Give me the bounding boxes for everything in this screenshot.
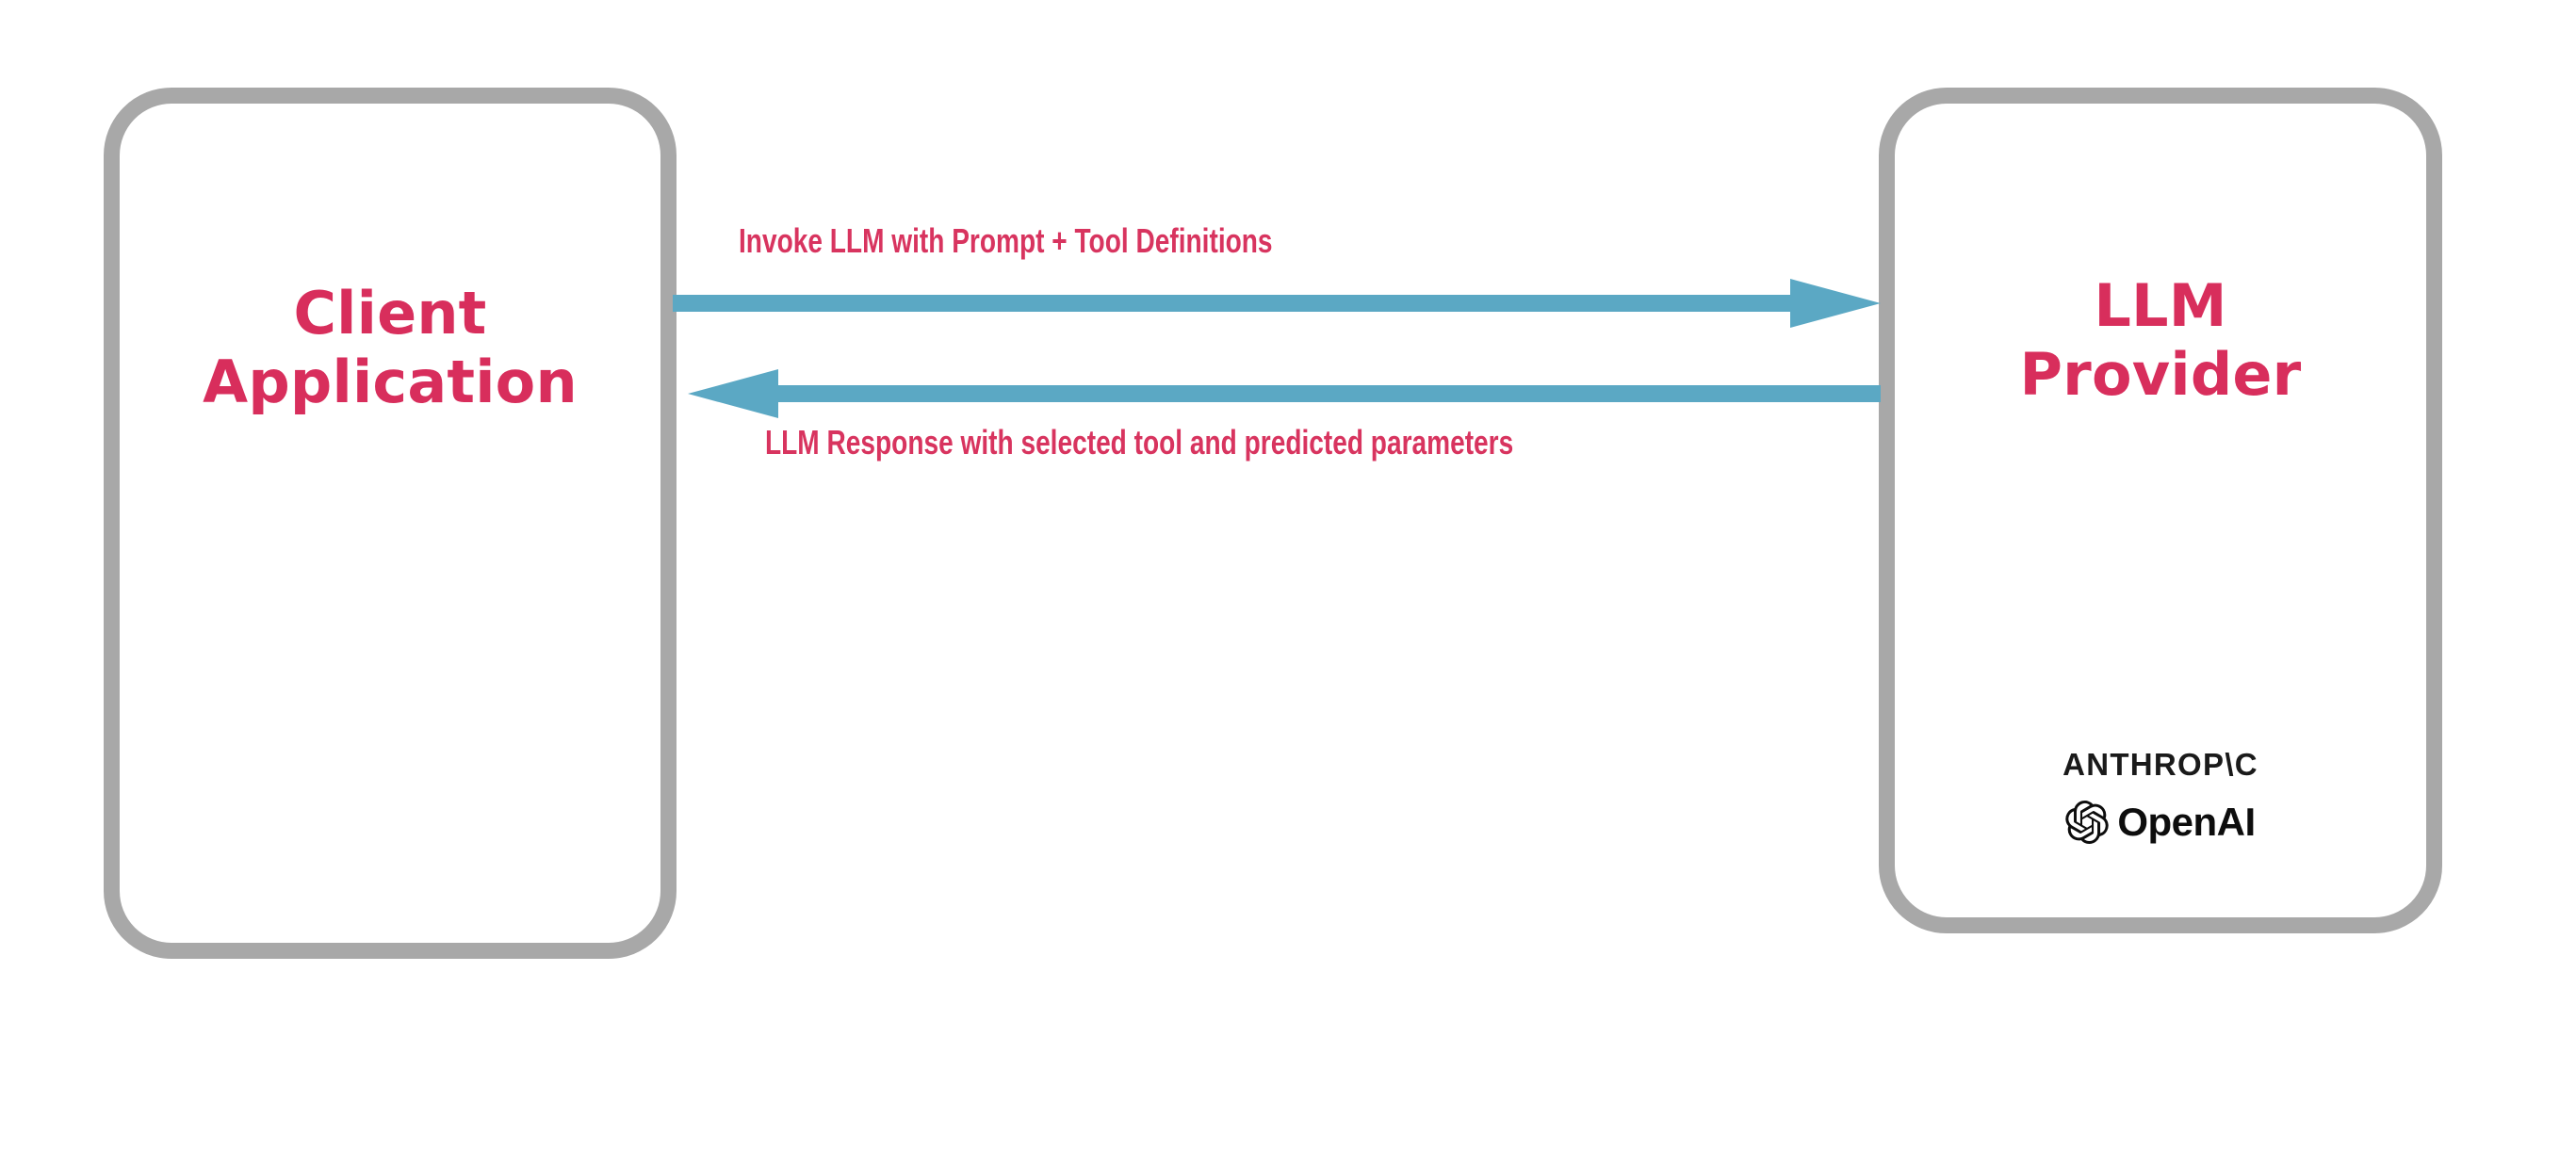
node-llm-provider-label: LLM Provider [2020,271,2302,409]
provider-logo-group: ANTHROP\C OpenAI [1895,749,2426,844]
arrow-request-label: Invoke LLM with Prompt + Tool Definition… [739,224,1273,258]
diagram-canvas: Client Application LLM Provider ANTHROP\… [0,0,2576,1166]
node-client-application-label: Client Application [203,279,578,416]
arrow-request-to-provider[interactable] [673,279,1881,328]
arrow-response-label: LLM Response with selected tool and pred… [765,426,1513,460]
openai-wordmark: OpenAI [2117,802,2255,842]
arrow-response-to-client[interactable] [688,369,1881,418]
anthropic-logo: ANTHROP\C [2062,749,2258,780]
node-client-application[interactable]: Client Application [104,88,677,959]
openai-mark-icon [2065,801,2109,844]
node-llm-provider[interactable]: LLM Provider ANTHROP\C OpenAI [1879,88,2442,933]
openai-logo: OpenAI [2065,801,2255,844]
